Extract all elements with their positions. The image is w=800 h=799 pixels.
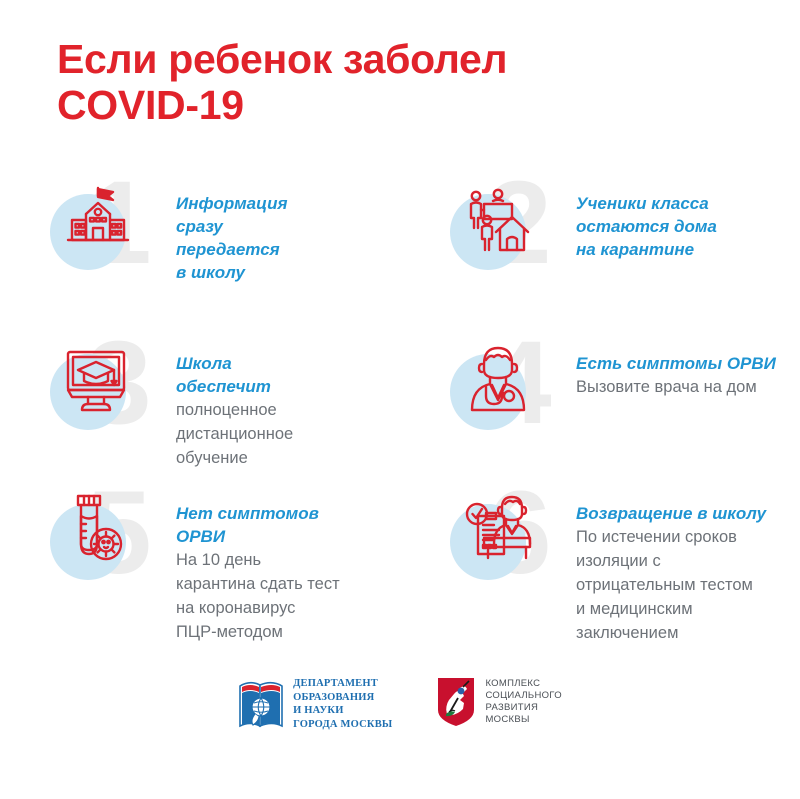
step-body-6: По истечении сроков изоляции с отрицател… [576, 525, 766, 645]
step-icon-badge-5 [48, 494, 134, 580]
step-icon-badge-3 [48, 344, 134, 430]
step-text-6: Возвращение в школу По истечении сроков … [576, 490, 766, 645]
doctor-stethoscope-icon [462, 344, 534, 416]
step-body-5: На 10 день карантина сдать тест на корон… [176, 548, 340, 644]
step-icon-badge-1 [48, 184, 134, 270]
steps-grid: 1 [0, 180, 800, 665]
step-icon-badge-2 [448, 184, 534, 270]
monitor-graduation-cap-icon [62, 344, 134, 416]
step-lead-3: Школа обеспечит [176, 352, 293, 398]
step-item-6: 6 [400, 490, 800, 665]
steps-row: 5 [0, 490, 800, 665]
logo-department-of-education-text: ДЕПАРТАМЕНТ ОБРАЗОВАНИЯ И НАУКИ ГОРОДА М… [293, 677, 392, 731]
step-item-2: 2 [400, 180, 800, 340]
logo-moscow-social-development: КОМПЛЕКС СОЦИАЛЬНОГО РАЗВИТИЯ МОСКВЫ [436, 676, 561, 728]
step-lead-2: Ученики класса остаются дома на карантин… [576, 192, 717, 261]
step-text-1: Информация сразу передается в школу [176, 180, 288, 284]
infographic-page: Если ребенок заболел COVID-19 1 [0, 0, 800, 799]
page-title: Если ребенок заболел COVID-19 [57, 36, 507, 128]
step-text-5: Нет симптомов ОРВИ На 10 день карантина … [176, 490, 340, 644]
step-icon-badge-4 [448, 344, 534, 430]
moscow-coat-of-arms-emblem [436, 676, 476, 728]
logo-moscow-social-development-text: КОМПЛЕКС СОЦИАЛЬНОГО РАЗВИТИЯ МОСКВЫ [485, 678, 561, 726]
step-body-4: Вызовите врача на дом [576, 375, 776, 399]
step-lead-6: Возвращение в школу [576, 502, 766, 525]
school-building-icon [62, 184, 134, 256]
doctor-clipboard-check-icon [462, 494, 534, 566]
step-lead-1: Информация сразу передается в школу [176, 192, 288, 284]
step-lead-4: Есть симптомы ОРВИ [576, 352, 776, 375]
steps-row: 3 [0, 340, 800, 490]
footer-logos: ДЕПАРТАМЕНТ ОБРАЗОВАНИЯ И НАУКИ ГОРОДА М… [0, 676, 800, 732]
step-item-3: 3 [0, 340, 400, 490]
step-item-4: 4 [400, 340, 800, 490]
students-at-home-icon [462, 184, 534, 256]
step-text-3: Школа обеспечит полноценное дистанционно… [176, 340, 293, 470]
step-item-1: 1 [0, 180, 400, 340]
test-tube-virus-icon [62, 494, 134, 566]
open-book-globe-emblem [238, 676, 284, 732]
step-icon-badge-6 [448, 494, 534, 580]
step-text-2: Ученики класса остаются дома на карантин… [576, 180, 717, 261]
steps-row: 1 [0, 180, 800, 340]
step-text-4: Есть симптомы ОРВИ Вызовите врача на дом [576, 340, 776, 399]
step-body-3: полноценное дистанционное обучение [176, 398, 293, 470]
step-item-5: 5 [0, 490, 400, 665]
step-lead-5: Нет симптомов ОРВИ [176, 502, 340, 548]
logo-department-of-education: ДЕПАРТАМЕНТ ОБРАЗОВАНИЯ И НАУКИ ГОРОДА М… [238, 676, 392, 732]
